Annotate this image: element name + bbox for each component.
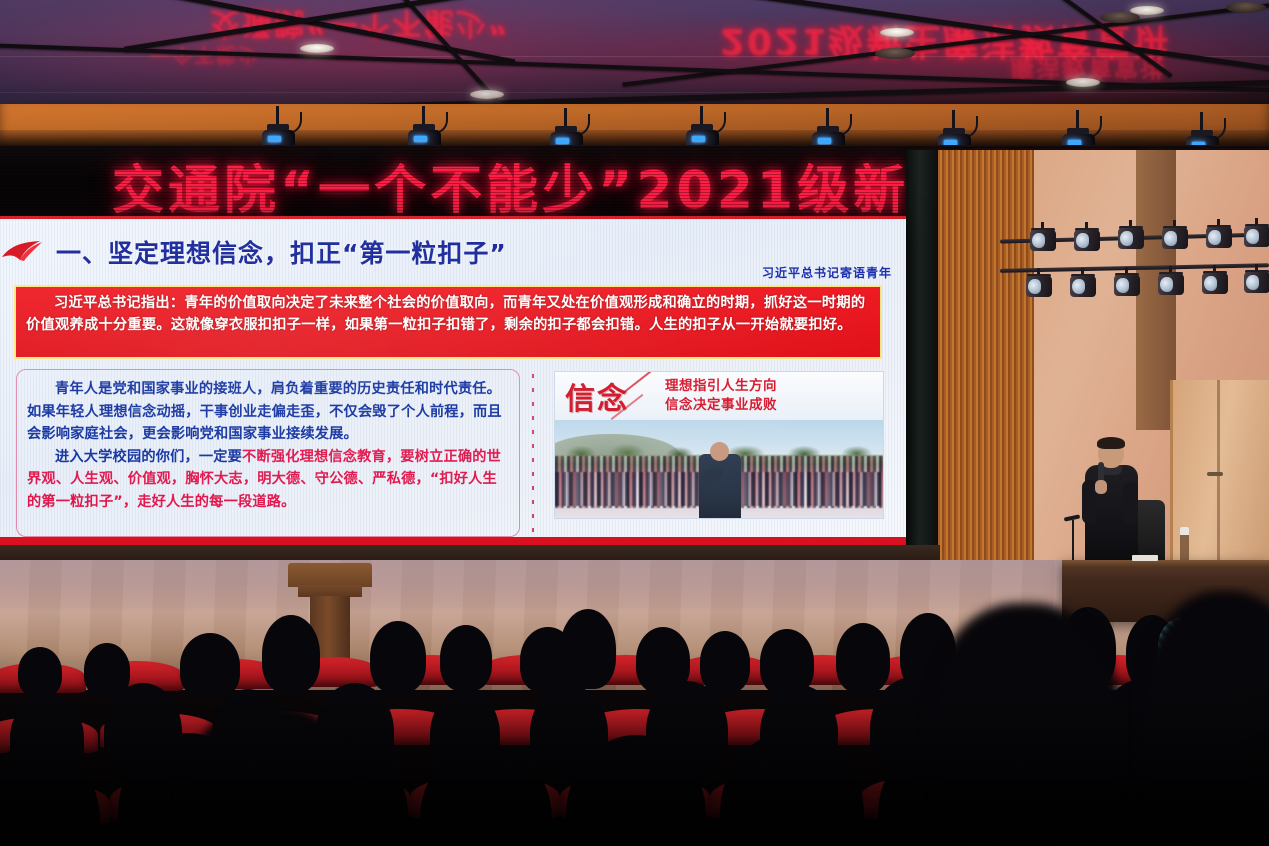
water-bottle — [1180, 527, 1189, 561]
slide-quote-box: 习近平总书记指出：青年的价值取向决定了未来整个社会的价值取向，而青年又处在价值观… — [14, 285, 882, 359]
audience-head — [18, 647, 62, 697]
slide-title: 一、坚定理想信念，扣正“第一粒扣子” — [56, 234, 507, 270]
par-can-light — [1118, 220, 1144, 250]
slide-body-paragraph-1: 青年人是党和国家事业的接班人，肩负着重要的历史责任和时代责任。如果年轻人理想信念… — [27, 378, 511, 446]
slogan-line-1: 理想指引人生方向 — [665, 377, 777, 396]
ceiling-light — [880, 28, 914, 37]
presentation-slide: 一、坚定理想信念，扣正“第一粒扣子” 习近平总书记寄语青年 习近平总书记指出：青… — [0, 216, 906, 546]
par-can-light — [1026, 268, 1052, 298]
ceiling-dome-fixture — [875, 48, 915, 59]
par-can-light — [1244, 218, 1269, 248]
speaker-person — [1082, 438, 1140, 564]
slide-top-accent-bar — [0, 216, 906, 219]
par-can-light — [1114, 267, 1140, 297]
audience-head-foreground — [720, 731, 864, 846]
ceiling-light — [470, 90, 504, 99]
ceiling-light — [1066, 78, 1100, 87]
audience-head — [836, 623, 890, 693]
slide-body-paragraph-2: 进入大学校园的你们，一定要不断强化理想信念教育，要树立正确的世界观、人生观、价值… — [27, 446, 511, 514]
documents-on-table — [1132, 555, 1158, 561]
par-can-light — [1074, 222, 1100, 252]
door-handle-icon — [1207, 472, 1223, 476]
audience-head — [560, 609, 616, 689]
ceiling-panel-seam — [0, 92, 1269, 93]
slide-subtitle: 习近平总书记寄语青年 — [762, 264, 892, 281]
slide-quote-text: 习近平总书记指出：青年的价值取向决定了未来整个社会的价值取向，而青年又处在价值观… — [26, 292, 870, 336]
ceiling-dome-fixture — [1226, 2, 1266, 13]
audience-head-blurred-foreground — [1140, 591, 1269, 841]
audience-head — [370, 621, 426, 693]
slide-picture-card: 信念 理想指引人生方向 信念决定事业成败 — [554, 371, 884, 519]
picture-card-slogan: 理想指引人生方向 信念决定事业成败 — [665, 377, 777, 415]
audience-head — [700, 631, 750, 693]
par-can-light — [1070, 268, 1096, 298]
ceiling-light — [300, 44, 334, 53]
crowd-photo — [555, 420, 883, 519]
ceiling-panel-seam — [0, 56, 1269, 57]
slide-dotted-divider — [532, 374, 534, 532]
slogan-line-2: 信念决定事业成败 — [665, 396, 777, 415]
par-can-light — [1162, 220, 1188, 250]
audience-head — [262, 615, 320, 693]
red-ribbon-icon — [0, 240, 46, 262]
audience-head — [440, 625, 492, 691]
par-can-light — [1030, 222, 1056, 252]
audience-area — [0, 585, 1269, 846]
slide-body-box: 青年人是党和国家事业的接班人，肩负着重要的历史责任和时代责任。如果年轻人理想信念… — [16, 369, 520, 537]
par-can-light — [1244, 264, 1269, 294]
ceiling-dome-fixture — [1100, 12, 1140, 23]
projection-screen: 一、坚定理想信念，扣正“第一粒扣子” 习近平总书记寄语青年 习近平总书记指出：青… — [0, 216, 906, 546]
auditorium-photo: 交通院“一个不能少” 2021级新生廉洁教育宣讲 一个不能少 廉洁教育宣讲 — [0, 0, 1269, 846]
audience-head-blurred-foreground — [930, 603, 1120, 843]
photo-central-figure — [699, 454, 741, 519]
wood-slat-panel — [938, 150, 1034, 620]
par-can-light — [1158, 266, 1184, 296]
audience-head-foreground — [0, 745, 100, 846]
par-can-light — [1202, 265, 1228, 295]
audience-head — [180, 633, 240, 699]
microphone-stand — [1072, 520, 1074, 562]
par-can-light — [1206, 219, 1232, 249]
paragraph-2-lead: 进入大学校园的你们，一定要 — [55, 449, 242, 465]
fixture-status-led — [268, 136, 281, 142]
